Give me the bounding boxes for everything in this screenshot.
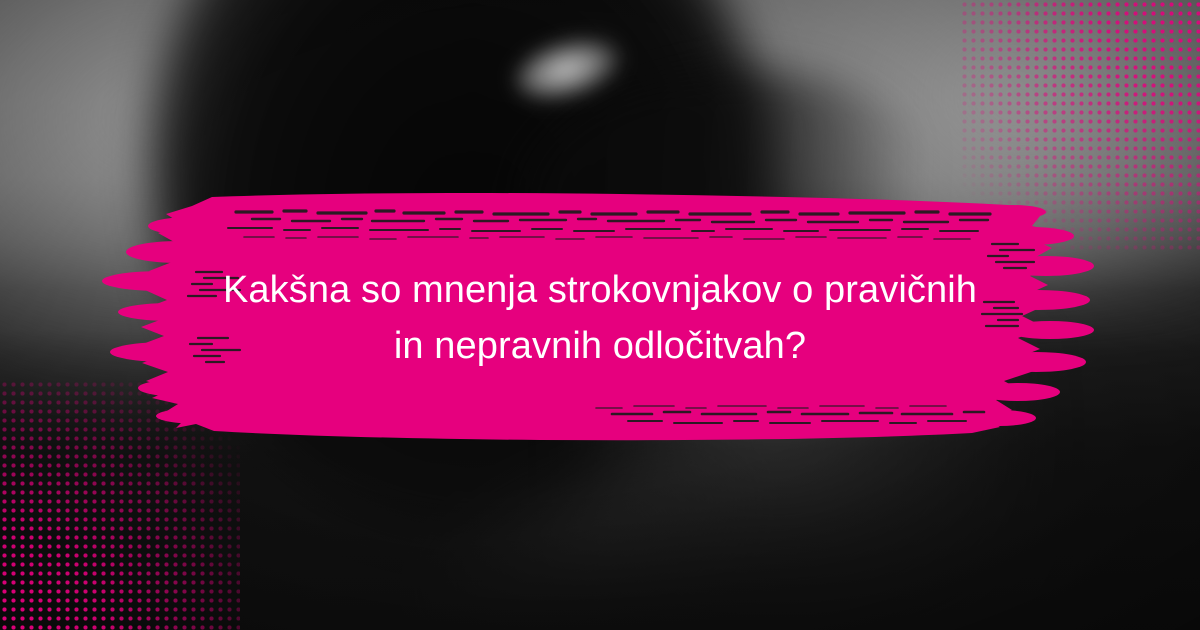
headline-text: Kakšna so mnenja strokovnjakov o pravičn… — [0, 262, 1200, 374]
headline-line-2: in nepravnih odločitvah? — [394, 325, 806, 367]
social-card: Kakšna so mnenja strokovnjakov o pravičn… — [0, 0, 1200, 630]
headline-line-1: Kakšna so mnenja strokovnjakov o pravičn… — [223, 269, 977, 311]
